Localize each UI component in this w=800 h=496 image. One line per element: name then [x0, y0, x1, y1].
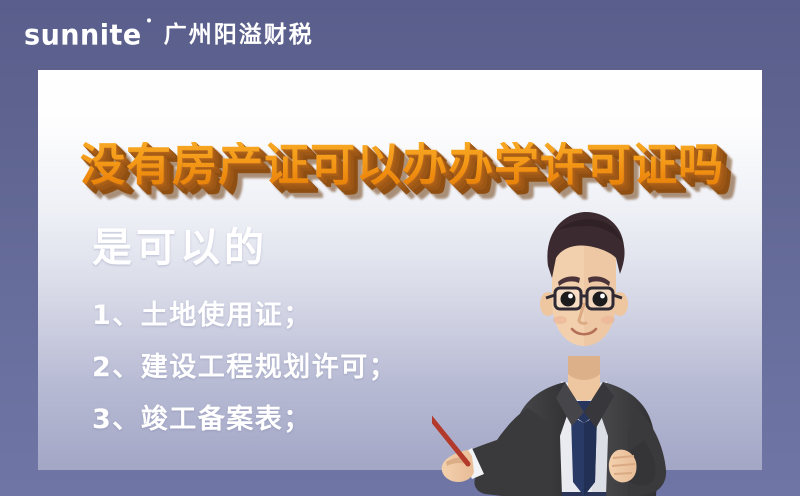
businessman-illustration	[432, 196, 732, 496]
cheek-right	[601, 316, 615, 324]
logo-company-name: 广州阳溢财税	[164, 24, 314, 47]
pointer-stick	[432, 412, 468, 464]
businessman-svg	[432, 196, 732, 496]
eye-left	[561, 292, 576, 307]
pointer-hidden	[432, 406, 438, 458]
logo-wordmark: sunnite	[24, 21, 142, 49]
brand-header: sunnite 广州阳溢财税	[0, 0, 800, 70]
poster-canvas: sunnite 广州阳溢财税 没有房产证可以办办学许可证吗 是可以的 1、土地使…	[0, 0, 800, 496]
neck-shadow	[568, 356, 600, 380]
cheek-left	[553, 316, 567, 324]
eye-left-highlight	[568, 294, 573, 299]
registered-dot-icon	[147, 18, 151, 22]
eye-right	[593, 292, 608, 307]
logo-wordmark-text: sunnite	[24, 19, 142, 51]
eye-right-highlight	[600, 294, 605, 299]
